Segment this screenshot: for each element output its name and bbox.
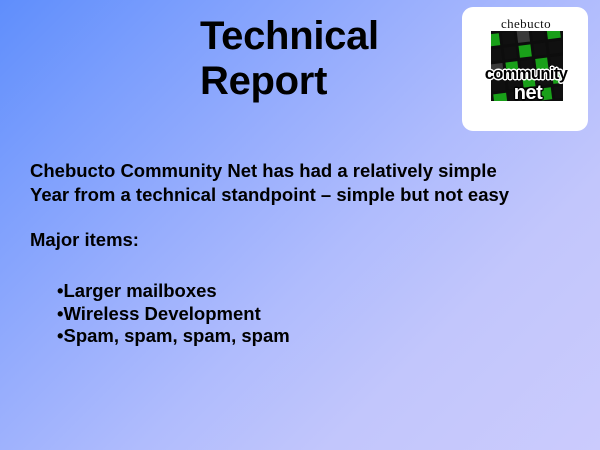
logo-mid-word: community xyxy=(480,66,572,83)
title-line-2: Report xyxy=(200,59,455,104)
list-item: • Spam, spam, spam, spam xyxy=(57,325,290,348)
logo-bottom-word: net xyxy=(505,83,551,104)
chebucto-logo-icon: chebucto community net xyxy=(483,17,569,122)
list-item: • Larger mailboxes xyxy=(57,280,290,303)
paragraph-line-1: Chebucto Community Net has had a relativ… xyxy=(30,159,575,183)
bullet-list: • Larger mailboxes • Wireless Developmen… xyxy=(57,280,290,348)
list-item-label: Larger mailboxes xyxy=(63,280,216,303)
chebucto-logo-card: chebucto community net xyxy=(462,7,588,131)
paragraph-line-2: Year from a technical standpoint – simpl… xyxy=(30,183,575,207)
list-item-label: Spam, spam, spam, spam xyxy=(63,325,289,348)
list-item-label: Wireless Development xyxy=(63,303,260,326)
title-line-1: Technical xyxy=(200,14,455,59)
body-paragraph: Chebucto Community Net has had a relativ… xyxy=(30,159,575,206)
section-heading: Major items: xyxy=(30,228,139,252)
slide-canvas: Technical Report chebucto community net … xyxy=(0,0,600,450)
list-item: • Wireless Development xyxy=(57,303,290,326)
page-title: Technical Report xyxy=(200,14,455,104)
logo-top-word: chebucto xyxy=(483,17,569,31)
